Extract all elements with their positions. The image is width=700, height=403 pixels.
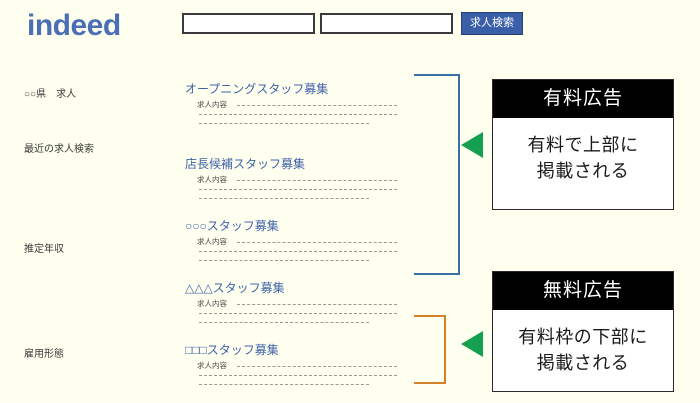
list-item[interactable]: 店長候補スタッフ募集 求人内容: [185, 157, 410, 176]
placeholder-line: [237, 366, 397, 367]
job-title-link[interactable]: オープニングスタッフ募集: [185, 82, 410, 96]
list-item[interactable]: オープニングスタッフ募集 求人内容: [185, 82, 410, 101]
paid-ad-callout-heading: 有料広告: [493, 80, 673, 118]
sidebar-item-estimated-salary[interactable]: 推定年収: [24, 240, 64, 255]
job-content-label: 求人内容: [197, 362, 227, 370]
placeholder-line: [199, 384, 369, 385]
placeholder-line: [237, 304, 397, 305]
sidebar-item-prefecture-jobs[interactable]: ○○県 求人: [24, 85, 76, 100]
paid-ad-callout-line1: 有料で上部に: [493, 132, 673, 158]
free-ad-callout: 無料広告 有料枠の下部に 掲載される: [492, 271, 674, 392]
indeed-logo: indeed: [27, 10, 121, 42]
job-title-link[interactable]: ○○○スタッフ募集: [185, 219, 410, 233]
list-item[interactable]: △△△スタッフ募集 求人内容: [185, 281, 410, 300]
placeholder-line: [199, 322, 369, 323]
left-arrow-icon: [461, 331, 483, 357]
placeholder-line: [199, 114, 397, 115]
free-ad-callout-line2: 掲載される: [493, 350, 673, 376]
site-header: indeed 求人検索: [0, 0, 700, 50]
placeholder-line: [199, 375, 397, 376]
free-ad-callout-body: 有料枠の下部に 掲載される: [493, 310, 673, 376]
job-content-label: 求人内容: [197, 176, 227, 184]
free-ad-callout-line1: 有料枠の下部に: [493, 324, 673, 350]
job-search-button[interactable]: 求人検索: [461, 12, 523, 35]
list-item[interactable]: □□□スタッフ募集 求人内容: [185, 343, 410, 362]
placeholder-line: [199, 198, 369, 199]
placeholder-line: [199, 260, 369, 261]
paid-ad-callout-line2: 掲載される: [493, 158, 673, 184]
paid-ad-callout: 有料広告 有料で上部に 掲載される: [492, 79, 674, 210]
placeholder-line: [237, 180, 397, 181]
job-title-link[interactable]: 店長候補スタッフ募集: [185, 157, 410, 171]
job-title-link[interactable]: △△△スタッフ募集: [185, 281, 410, 295]
paid-ad-callout-body: 有料で上部に 掲載される: [493, 118, 673, 184]
location-search-input[interactable]: [320, 13, 453, 34]
sidebar-item-employment-type[interactable]: 雇用形態: [24, 345, 64, 360]
sidebar-item-recent-searches[interactable]: 最近の求人検索: [24, 140, 94, 155]
filter-sidebar: ○○県 求人 最近の求人検索 推定年収 雇用形態: [0, 55, 175, 403]
free-listings-bracket: [414, 315, 446, 384]
placeholder-line: [199, 251, 397, 252]
placeholder-line: [199, 313, 397, 314]
job-content-label: 求人内容: [197, 300, 227, 308]
placeholder-line: [199, 189, 397, 190]
job-results-list: オープニングスタッフ募集 求人内容 店長候補スタッフ募集 求人内容 ○○○スタッ…: [185, 55, 410, 403]
list-item[interactable]: ○○○スタッフ募集 求人内容: [185, 219, 410, 238]
placeholder-line: [237, 105, 397, 106]
keyword-search-input[interactable]: [182, 13, 315, 34]
placeholder-line: [199, 123, 369, 124]
left-arrow-icon: [461, 132, 483, 158]
job-content-label: 求人内容: [197, 238, 227, 246]
free-ad-callout-heading: 無料広告: [493, 272, 673, 310]
job-content-label: 求人内容: [197, 101, 227, 109]
paid-listings-bracket: [414, 74, 460, 275]
placeholder-line: [237, 242, 397, 243]
job-title-link[interactable]: □□□スタッフ募集: [185, 343, 410, 357]
